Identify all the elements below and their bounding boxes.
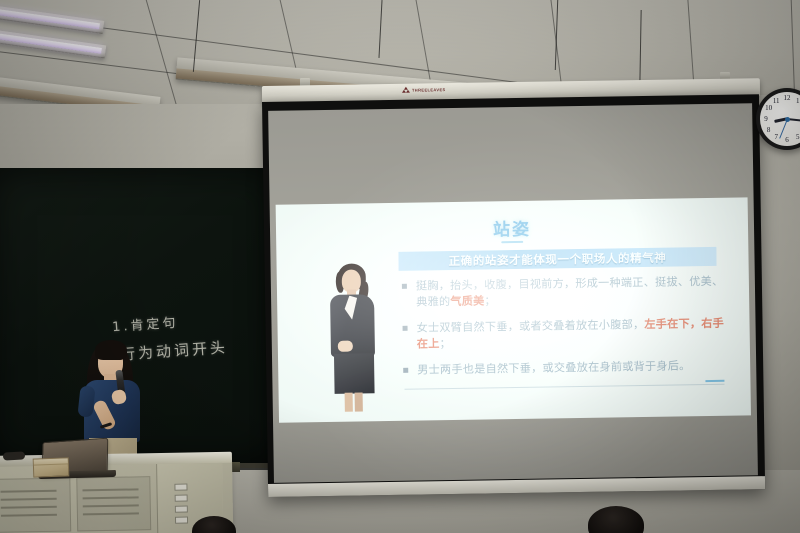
classroom-scene: 1.肯定句 行为动词开头 THREELEAVES 站姿 正确的站姿才能体现一个职… <box>0 0 800 533</box>
bullet-text: 女士双臂自然下垂，或者交叠着放在小腹部， <box>416 318 644 335</box>
slide-bullet-list: 挺胸，抬头，收腹，目视前方，形成一种端正、挺拔、优美、典雅的气质美； 女士双臂自… <box>401 274 733 388</box>
slide-accent-dash <box>705 380 724 382</box>
clock-number: 5 <box>796 133 800 141</box>
wooden-box <box>33 457 70 477</box>
slide-banner-text: 正确的站姿才能体现一个职场人的精气神 <box>449 249 667 268</box>
desk-object <box>3 451 25 460</box>
clock-number: 8 <box>767 126 771 134</box>
slide-photo-businesswoman <box>319 263 389 412</box>
threeleaves-logo: THREELEAVES <box>402 86 446 93</box>
bullet-item: 男士两手也是自然下垂，或交叠放在身前或背于身后。 <box>402 357 732 379</box>
clock-number: 7 <box>774 133 778 141</box>
clock-center-pin <box>785 117 790 122</box>
clock-number: 9 <box>764 115 768 123</box>
title-underline-decoration <box>501 241 523 243</box>
podium-port-labels <box>174 484 189 524</box>
slide-title: 站姿 <box>276 211 748 243</box>
presentation-slide[interactable]: 站姿 正确的站姿才能体现一个职场人的精气神 <box>276 197 751 422</box>
bullet-text: ； <box>440 337 452 350</box>
screen-surface: 站姿 正确的站姿才能体现一个职场人的精气神 <box>268 103 758 483</box>
bullet-item: 女士双臂自然下垂，或者交叠着放在小腹部，左手在下，右手在上； <box>401 316 731 354</box>
slide-banner: 正确的站姿才能体现一个职场人的精气神 <box>398 247 716 271</box>
clock-number: 11 <box>773 97 780 105</box>
three-leaves-mark <box>402 87 409 93</box>
clock-number: 1 <box>796 97 800 105</box>
clock-number: 6 <box>785 136 789 144</box>
projection-screen[interactable]: 站姿 正确的站姿才能体现一个职场人的精气神 <box>262 94 765 497</box>
clock-face: 12 1 2 3 4 5 6 7 8 9 10 11 <box>760 92 800 146</box>
housing-brand-label: THREELEAVES <box>412 87 446 93</box>
clock-number: 10 <box>765 104 772 112</box>
bullet-item: 挺胸，抬头，收腹，目视前方，形成一种端正、挺拔、优美、典雅的气质美； <box>401 274 731 312</box>
bullet-text: ； <box>484 295 496 308</box>
clock-number: 12 <box>784 94 791 102</box>
bullet-highlight-text: 气质美 <box>450 295 484 309</box>
bullet-text: 男士两手也是自然下垂，或交叠放在身前或背于身后。 <box>417 359 690 376</box>
